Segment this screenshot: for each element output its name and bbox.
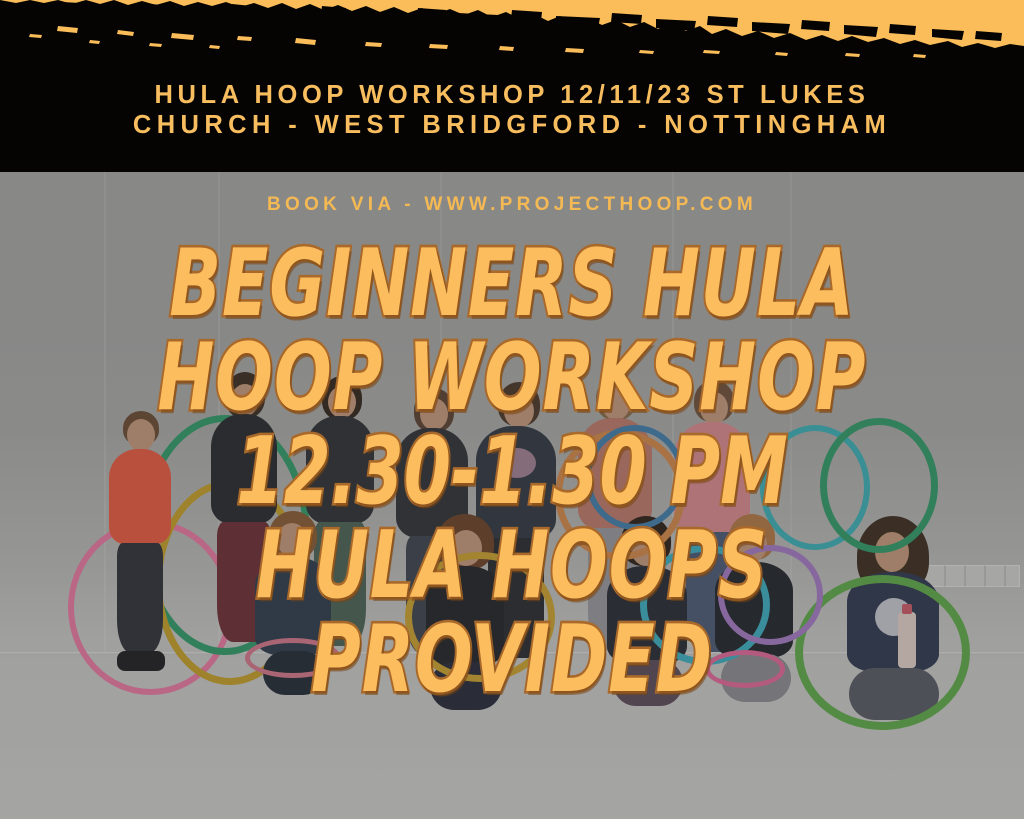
hoop-blue-back [585,425,685,530]
poster-canvas: HULA HOOP WORKSHOP 12/11/23 ST LUKES CHU… [0,0,1024,819]
event-header-text: HULA HOOP WORKSHOP 12/11/23 ST LUKES CHU… [0,80,1024,140]
hoop-purple-right [718,545,823,645]
grunge-brush-texture [0,0,1024,62]
hoop-pink-floor [705,650,785,688]
water-bottle-cap [902,604,912,614]
event-header-line2: CHURCH - WEST BRIDGFORD - NOTTINGHAM [133,111,891,139]
booking-line[interactable]: BOOK VIA - WWW.PROJECTHOOP.COM [0,194,1024,216]
event-header-line1: HULA HOOP WORKSHOP 12/11/23 ST LUKES [155,81,870,109]
person-standing-1 [105,415,175,680]
water-bottle [898,612,916,668]
top-black-band: HULA HOOP WORKSHOP 12/11/23 ST LUKES CHU… [0,0,1024,172]
hoop-pink-floor-2 [245,638,341,678]
hoop-yellow-mid [405,552,555,682]
hoop-green-far-right [820,418,938,553]
